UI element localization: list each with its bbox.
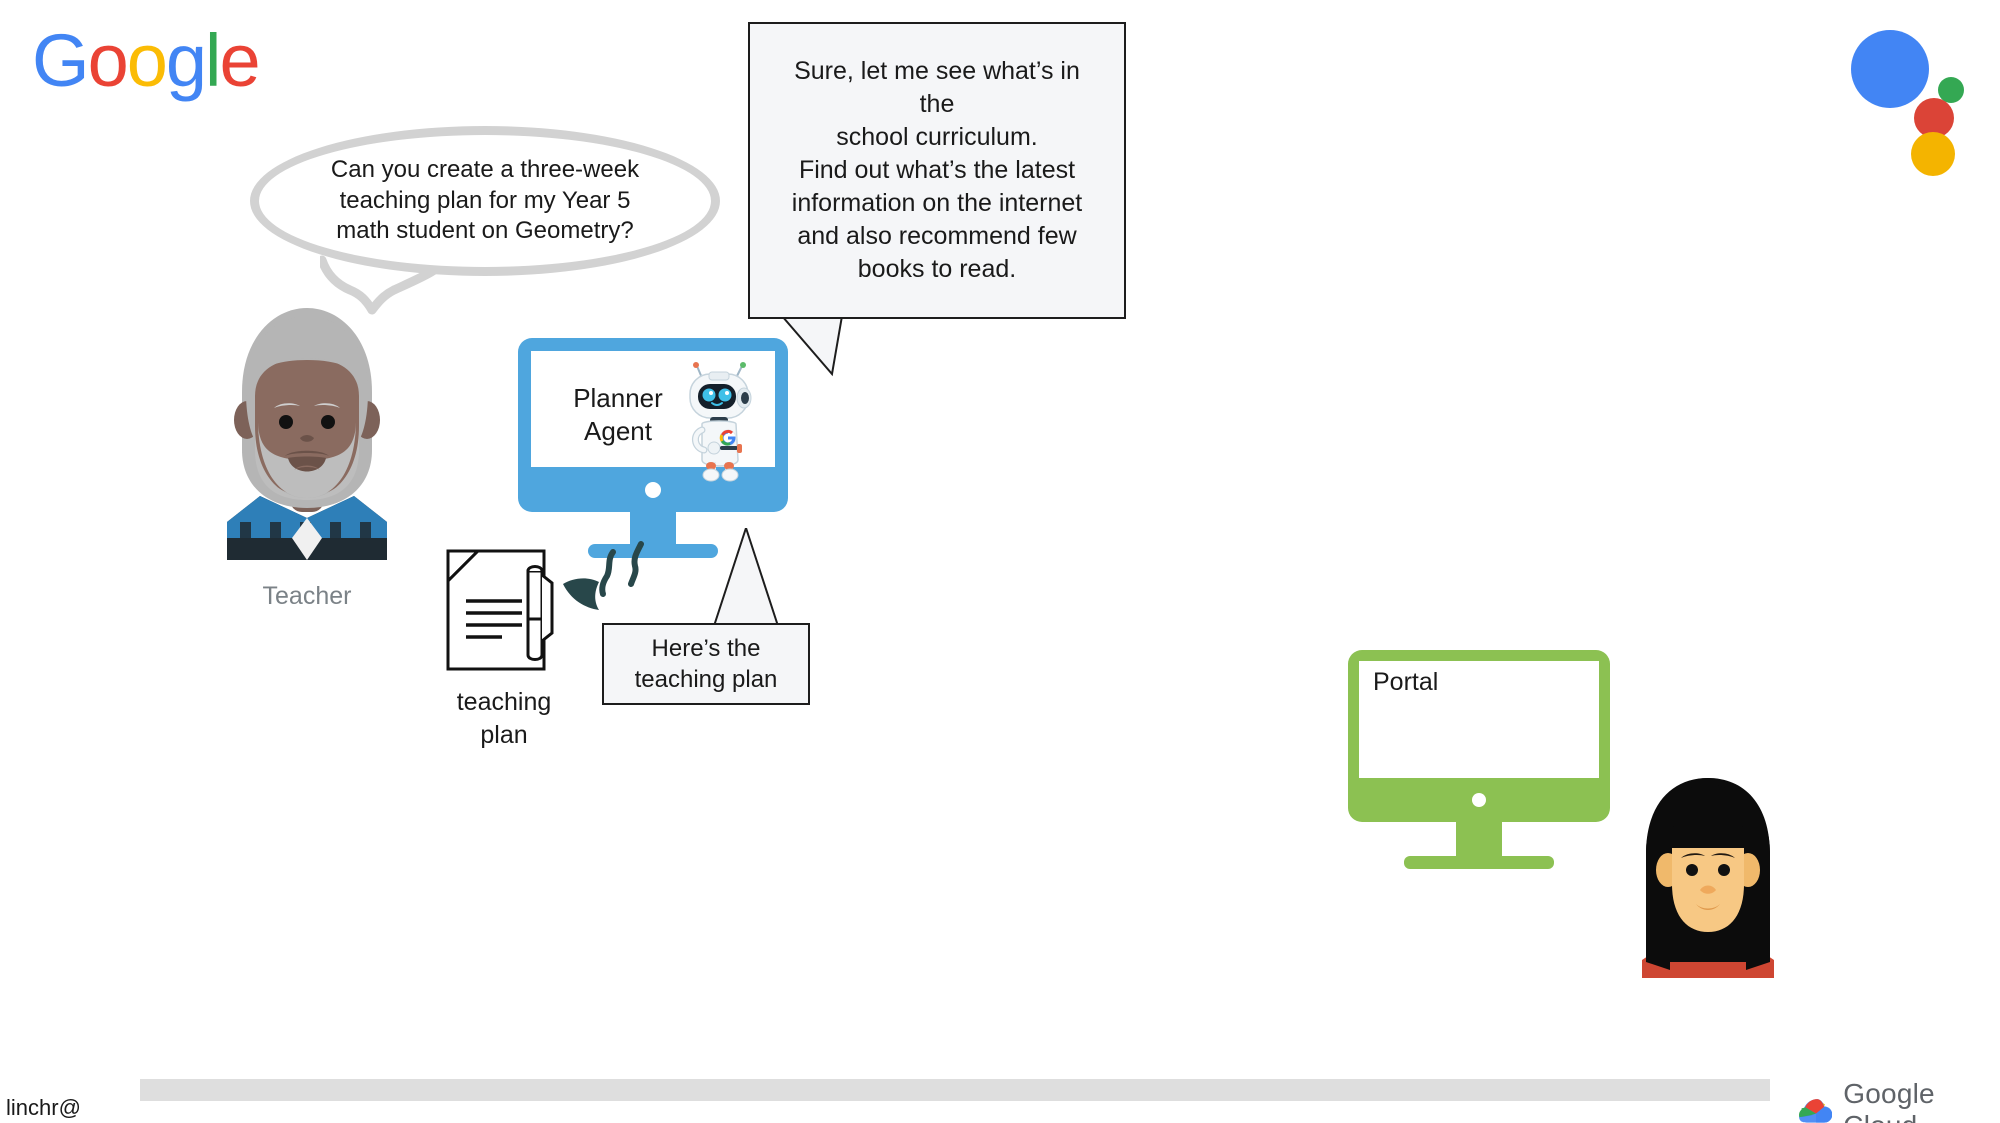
agent-reply-bubble: Sure, let me see what’s in the school cu… [748,22,1126,319]
slide-canvas: Google Can you create a three-week teach… [0,0,2000,1123]
handdrawn-arrow-icon [555,540,685,630]
agent-reply-text: Sure, let me see what’s in the school cu… [750,55,1124,286]
google-logo-letter-o2: o [127,24,166,98]
agent-deliver-text: Here’s the teaching plan [635,633,778,695]
teaching-plan-label: teaching plan [414,686,594,751]
google-cloud-word-google: Google [1843,1078,1935,1109]
footer-user-handle: linchr@ [6,1095,81,1121]
google-logo-letter-l: l [205,24,219,98]
google-cloud-mark-icon [1798,1094,1832,1123]
plan-bubble-tail [710,528,782,628]
google-logo-letter-g1: G [32,24,88,98]
teacher-avatar [222,300,392,560]
google-logo-letter-e: e [219,24,258,98]
teacher-speech-bubble: Can you create a three-week teaching pla… [250,126,720,276]
google-cloud-word-cloud: Cloud [1843,1110,1917,1123]
agent-deliver-bubble: Here’s the teaching plan [602,623,810,705]
google-cloud-logo: Google Cloud [1798,1078,2000,1123]
portal-screen-label: Portal [1373,668,1438,697]
robot-mascot-icon [680,362,760,487]
agent-bubble-tail [780,316,910,378]
assistant-dot-yellow-icon [1911,132,1955,176]
teacher-speech-text: Can you create a three-week teaching pla… [297,155,673,247]
google-logo-letter-g2: g [166,24,205,98]
document-with-pen-icon [444,545,562,673]
google-logo: Google [32,24,259,98]
teacher-label: Teacher [222,582,392,611]
google-assistant-dots-icon [1851,22,1981,147]
google-cloud-wordmark: Google Cloud [1843,1078,2000,1123]
google-logo-letter-o1: o [88,24,127,98]
planner-agent-screen-label: Planner Agent [548,382,688,447]
assistant-dot-blue-icon [1851,30,1929,108]
footer-progress-bar [140,1079,1770,1101]
student-avatar [1638,774,1778,978]
